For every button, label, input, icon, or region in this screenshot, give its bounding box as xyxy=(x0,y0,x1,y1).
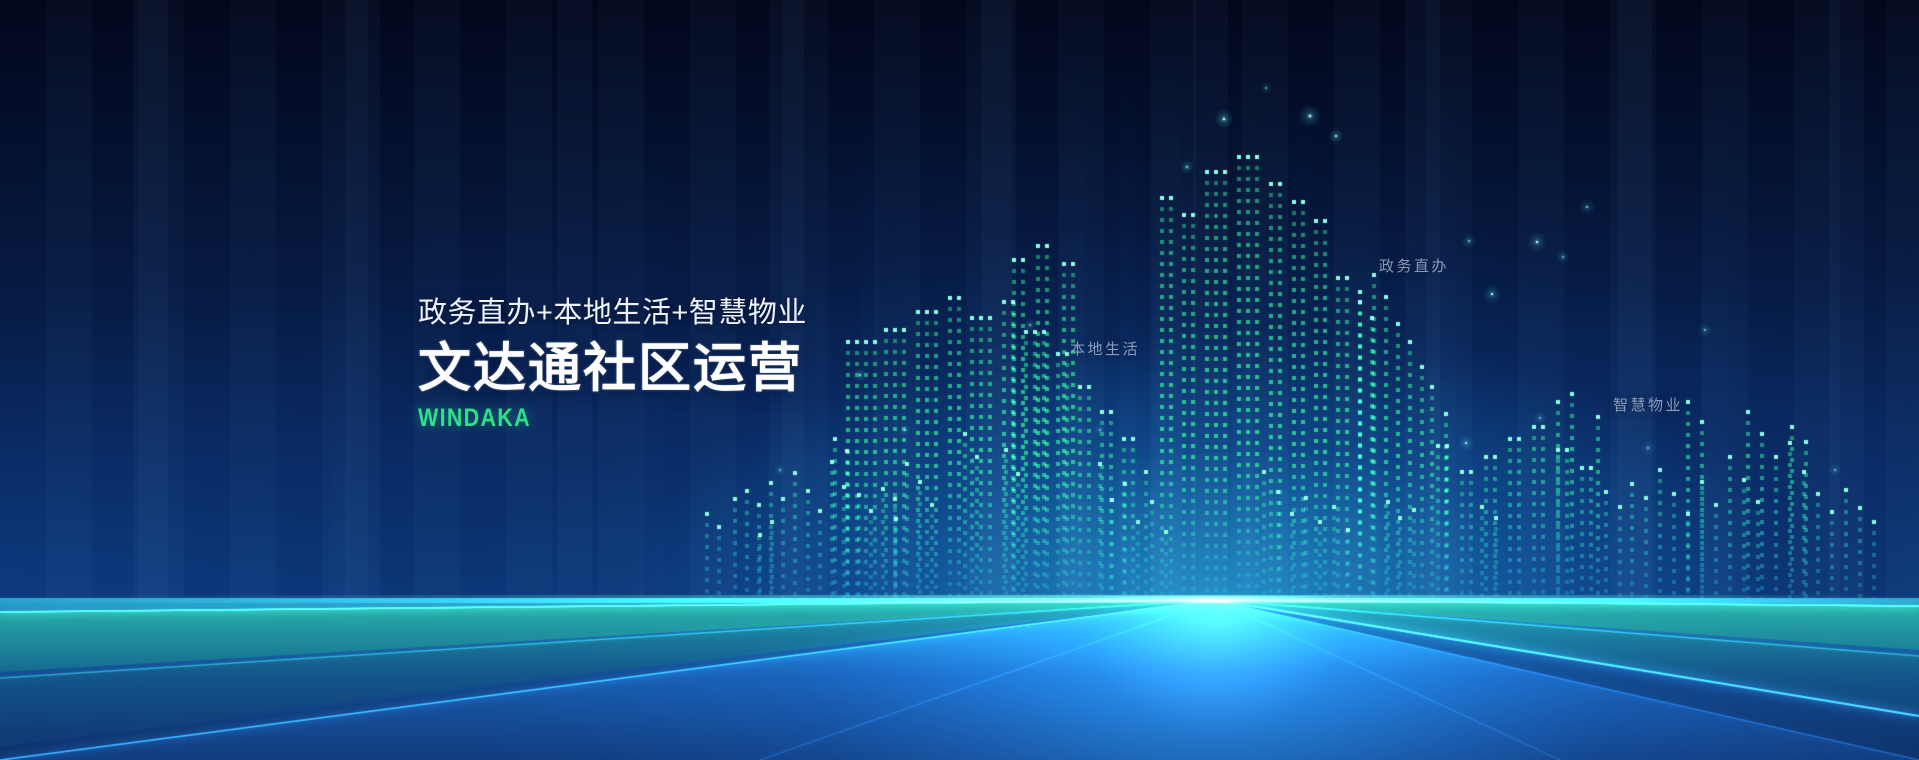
hero-subtitle: 政务直办+本地生活+智慧物业 xyxy=(418,296,807,331)
art-label-government-service: 政务直办 xyxy=(1379,255,1449,276)
perspective-floor xyxy=(0,0,1919,760)
hero-banner: 政务直办 本地生活 智慧物业 政务直办+本地生活+智慧物业 文达通社区运营 WI… xyxy=(0,0,1919,760)
art-label-local-life: 本地生活 xyxy=(1070,338,1140,359)
brand-wordmark: WINDAKA xyxy=(418,404,752,433)
hero-copy-block: 政务直办+本地生活+智慧物业 文达通社区运营 WINDAKA xyxy=(418,296,807,433)
art-label-smart-property: 智慧物业 xyxy=(1613,394,1683,415)
hero-title: 文达通社区运营 xyxy=(418,339,807,398)
